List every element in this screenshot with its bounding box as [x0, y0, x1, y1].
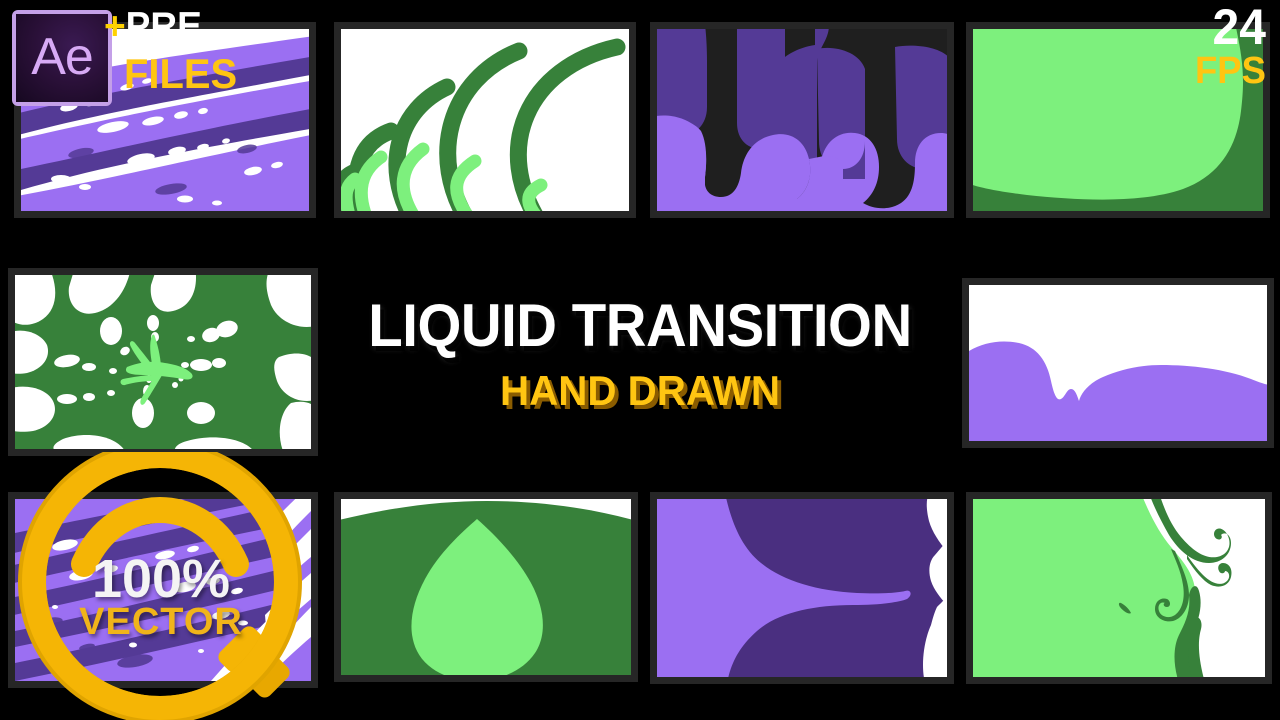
- thumbnail-purple-wave-rise[interactable]: [962, 278, 1274, 448]
- thumbnail-artwork: [657, 29, 947, 211]
- fps-number: 24: [1195, 4, 1266, 50]
- thumbnail-artwork: [341, 499, 631, 675]
- purple-tendril-wipe-icon: [657, 499, 947, 677]
- thumbnail-green-radial-burst[interactable]: [8, 268, 318, 456]
- ae-logo-label: Ae: [31, 31, 93, 83]
- after-effects-logo: Ae: [12, 10, 112, 106]
- pre-line: +PRE: [104, 8, 294, 45]
- pre-label: PRE: [126, 5, 202, 48]
- thumbnail-purple-drip-transition[interactable]: [650, 22, 954, 218]
- thumbnail-artwork: [15, 499, 311, 681]
- thumbnail-purple-tendril-wipe[interactable]: [650, 492, 954, 684]
- thumbnail-purple-diagonal-stripes[interactable]: [8, 492, 318, 688]
- pre-files-badge: +PRE FILES: [104, 8, 304, 95]
- green-radial-burst-icon: [15, 275, 311, 449]
- thumbnail-artwork: [973, 499, 1265, 677]
- promo-poster: Ae +PRE FILES 24 FPS LIQUID TRANSITION H…: [0, 0, 1280, 720]
- green-arc-strokes-icon: [341, 29, 629, 211]
- purple-drip-transition-icon: [657, 29, 947, 211]
- purple-wave-rise-icon: [969, 285, 1267, 441]
- thumbnail-green-curl-wipe[interactable]: [966, 492, 1272, 684]
- thumbnail-artwork: [657, 499, 947, 677]
- files-label: FILES: [124, 53, 295, 95]
- thumbnail-artwork: [341, 29, 629, 211]
- purple-diagonal-stripes-icon: [15, 499, 311, 681]
- green-curl-wipe-icon: [973, 499, 1265, 677]
- fps-label: FPS: [1195, 52, 1266, 90]
- plus-icon: +: [104, 5, 126, 48]
- fps-badge: 24 FPS: [1192, 4, 1266, 90]
- green-teardrop-rise-icon: [341, 499, 631, 675]
- thumbnail-green-arc-strokes[interactable]: [334, 22, 636, 218]
- thumbnail-green-teardrop-rise[interactable]: [334, 492, 638, 682]
- thumbnail-artwork: [15, 275, 311, 449]
- thumbnail-artwork: [969, 285, 1267, 441]
